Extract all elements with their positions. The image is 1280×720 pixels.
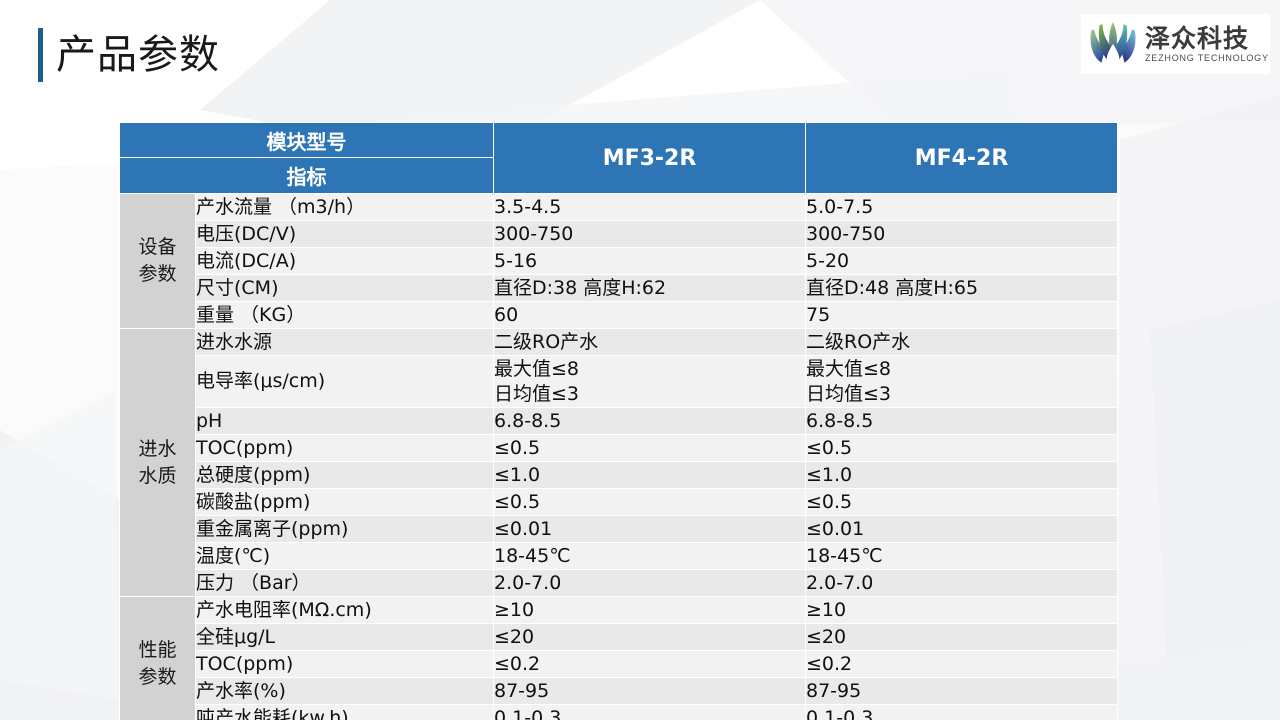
row-value-mf3: 二级RO产水 bbox=[494, 329, 806, 356]
group-label-cell: 进水 水质 bbox=[120, 329, 196, 597]
row-value-mf3: ≥10 bbox=[494, 597, 806, 624]
row-value-mf3: 最大值≤8 日均值≤3 bbox=[494, 356, 806, 408]
row-label-cell: 重量 （KG） bbox=[196, 302, 494, 329]
row-value-mf4: 87-95 bbox=[806, 678, 1118, 705]
row-value-mf4: ≤0.5 bbox=[806, 435, 1118, 462]
row-value-mf4: ≤20 bbox=[806, 624, 1118, 651]
row-value-mf3: ≤0.5 bbox=[494, 435, 806, 462]
row-value-mf4: 0.1-0.3 bbox=[806, 705, 1118, 720]
row-label-cell: 重金属离子(ppm) bbox=[196, 516, 494, 543]
table-row: 压力 （Bar）2.0-7.02.0-7.0 bbox=[120, 570, 1118, 597]
row-label-cell: 压力 （Bar） bbox=[196, 570, 494, 597]
row-value-mf3: 18-45℃ bbox=[494, 543, 806, 570]
row-value-mf3: ≤0.01 bbox=[494, 516, 806, 543]
table-row: TOC(ppm)≤0.2≤0.2 bbox=[120, 651, 1118, 678]
row-value-mf3: 3.5-4.5 bbox=[494, 194, 806, 221]
row-value-mf4: 5-20 bbox=[806, 248, 1118, 275]
row-value-mf3: ≤20 bbox=[494, 624, 806, 651]
row-value-mf4: 6.8-8.5 bbox=[806, 408, 1118, 435]
table-row: 产水率(%)87-9587-95 bbox=[120, 678, 1118, 705]
row-value-mf3: ≤1.0 bbox=[494, 462, 806, 489]
row-label-cell: TOC(ppm) bbox=[196, 435, 494, 462]
row-value-mf4: 直径D:48 高度H:65 bbox=[806, 275, 1118, 302]
row-value-mf3: 直径D:38 高度H:62 bbox=[494, 275, 806, 302]
row-value-mf4: ≤0.01 bbox=[806, 516, 1118, 543]
table-row: pH6.8-8.56.8-8.5 bbox=[120, 408, 1118, 435]
group-label-cell: 性能 参数 bbox=[120, 597, 196, 720]
company-logo: 泽众科技 ZEZHONG TECHNOLOGY bbox=[1081, 14, 1270, 74]
row-label-cell: 产水率(%) bbox=[196, 678, 494, 705]
table-row: 总硬度(ppm)≤1.0≤1.0 bbox=[120, 462, 1118, 489]
row-label-cell: 吨产水能耗(kw.h) bbox=[196, 705, 494, 720]
row-value-mf4: ≤0.2 bbox=[806, 651, 1118, 678]
slide-canvas: 产品参数 bbox=[0, 0, 1280, 720]
table-body: 设备 参数产水流量 （m3/h）3.5-4.55.0-7.5电压(DC/V)30… bbox=[120, 194, 1118, 720]
table-row: 电压(DC/V)300-750300-750 bbox=[120, 221, 1118, 248]
row-value-mf3: 60 bbox=[494, 302, 806, 329]
row-label-cell: 进水水源 bbox=[196, 329, 494, 356]
header-model-label: 模块型号 bbox=[120, 123, 494, 158]
row-value-mf3: 87-95 bbox=[494, 678, 806, 705]
row-value-mf3: 0.1-0.3 bbox=[494, 705, 806, 720]
row-label-cell: 尺寸(CM) bbox=[196, 275, 494, 302]
table-row: 温度(℃)18-45℃18-45℃ bbox=[120, 543, 1118, 570]
row-label-cell: 总硬度(ppm) bbox=[196, 462, 494, 489]
table-row: 进水 水质进水水源二级RO产水二级RO产水 bbox=[120, 329, 1118, 356]
logo-text: 泽众科技 ZEZHONG TECHNOLOGY bbox=[1145, 25, 1269, 64]
row-label-cell: TOC(ppm) bbox=[196, 651, 494, 678]
logo-name-en: ZEZHONG TECHNOLOGY bbox=[1145, 52, 1269, 64]
row-value-mf3: 6.8-8.5 bbox=[494, 408, 806, 435]
table-row: 电导率(μs/cm)最大值≤8 日均值≤3最大值≤8 日均值≤3 bbox=[120, 356, 1118, 408]
table-row: 碳酸盐(ppm)≤0.5≤0.5 bbox=[120, 489, 1118, 516]
table-row: 重金属离子(ppm)≤0.01≤0.01 bbox=[120, 516, 1118, 543]
row-value-mf4: ≥10 bbox=[806, 597, 1118, 624]
table-header: 模块型号 MF3-2R MF4-2R 指标 bbox=[120, 123, 1118, 194]
page-title-label: 产品参数 bbox=[56, 28, 220, 82]
logo-name-cn: 泽众科技 bbox=[1145, 25, 1269, 52]
table-header-row-model: 模块型号 MF3-2R MF4-2R bbox=[120, 123, 1118, 158]
title-accent-bar bbox=[38, 28, 43, 82]
page-title: 产品参数 bbox=[38, 28, 220, 82]
table-row: 性能 参数产水电阻率(MΩ.cm)≥10≥10 bbox=[120, 597, 1118, 624]
table-row: 电流(DC/A)5-165-20 bbox=[120, 248, 1118, 275]
row-value-mf4: 2.0-7.0 bbox=[806, 570, 1118, 597]
row-value-mf4: 75 bbox=[806, 302, 1118, 329]
table-row: 设备 参数产水流量 （m3/h）3.5-4.55.0-7.5 bbox=[120, 194, 1118, 221]
product-spec-table: 模块型号 MF3-2R MF4-2R 指标 设备 参数产水流量 （m3/h）3.… bbox=[119, 122, 1118, 720]
row-value-mf3: ≤0.5 bbox=[494, 489, 806, 516]
row-value-mf3: 2.0-7.0 bbox=[494, 570, 806, 597]
row-value-mf4: ≤0.5 bbox=[806, 489, 1118, 516]
row-value-mf4: 最大值≤8 日均值≤3 bbox=[806, 356, 1118, 408]
row-label-cell: 产水流量 （m3/h） bbox=[196, 194, 494, 221]
row-value-mf3: 300-750 bbox=[494, 221, 806, 248]
row-label-cell: 产水电阻率(MΩ.cm) bbox=[196, 597, 494, 624]
header-column-mf3: MF3-2R bbox=[494, 123, 806, 194]
row-label-cell: 电压(DC/V) bbox=[196, 221, 494, 248]
header-column-mf4: MF4-2R bbox=[806, 123, 1118, 194]
row-label-cell: 电流(DC/A) bbox=[196, 248, 494, 275]
row-value-mf4: 5.0-7.5 bbox=[806, 194, 1118, 221]
row-value-mf3: 5-16 bbox=[494, 248, 806, 275]
row-value-mf4: 300-750 bbox=[806, 221, 1118, 248]
row-label-cell: 碳酸盐(ppm) bbox=[196, 489, 494, 516]
table-row: 全硅μg/L≤20≤20 bbox=[120, 624, 1118, 651]
row-value-mf3: ≤0.2 bbox=[494, 651, 806, 678]
row-label-cell: pH bbox=[196, 408, 494, 435]
table-row: 重量 （KG）6075 bbox=[120, 302, 1118, 329]
row-label-cell: 全硅μg/L bbox=[196, 624, 494, 651]
row-value-mf4: ≤1.0 bbox=[806, 462, 1118, 489]
row-value-mf4: 二级RO产水 bbox=[806, 329, 1118, 356]
group-label-cell: 设备 参数 bbox=[120, 194, 196, 329]
row-label-cell: 温度(℃) bbox=[196, 543, 494, 570]
row-value-mf4: 18-45℃ bbox=[806, 543, 1118, 570]
table-row: 吨产水能耗(kw.h)0.1-0.30.1-0.3 bbox=[120, 705, 1118, 720]
row-label-cell: 电导率(μs/cm) bbox=[196, 356, 494, 408]
table-row: 尺寸(CM)直径D:38 高度H:62直径D:48 高度H:65 bbox=[120, 275, 1118, 302]
header-index-label: 指标 bbox=[120, 158, 494, 194]
lotus-waterdrop-icon bbox=[1087, 19, 1139, 69]
table-row: TOC(ppm)≤0.5≤0.5 bbox=[120, 435, 1118, 462]
